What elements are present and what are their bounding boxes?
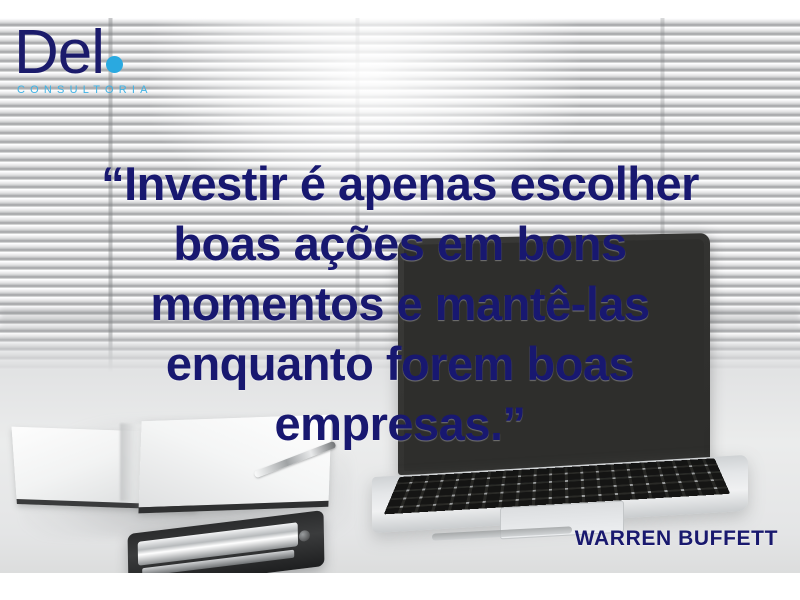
- blue-dot-icon: [106, 56, 123, 73]
- brand-name-text: Del: [14, 18, 104, 87]
- quote-line-3: momentos e mantê-las: [30, 274, 770, 334]
- quote-line-2: boas ações em bons: [30, 214, 770, 274]
- quote-line-4: enquanto forem boas: [30, 334, 770, 394]
- quote-line-1: “Investir é apenas escolher: [30, 154, 770, 214]
- quote-line-5: empresas.”: [30, 394, 770, 454]
- brand-name: Del: [14, 24, 194, 81]
- top-margin: [0, 0, 800, 18]
- quote-author: WARREN BUFFETT: [575, 527, 778, 551]
- brand-logo: Del CONSULTORIA: [14, 24, 194, 96]
- smartphone-camera-icon: [299, 530, 310, 542]
- quote-poster: Del CONSULTORIA “Investir é apenas escol…: [0, 0, 800, 600]
- quote-text: “Investir é apenas escolher boas ações e…: [30, 154, 770, 454]
- bottom-margin: [0, 573, 800, 600]
